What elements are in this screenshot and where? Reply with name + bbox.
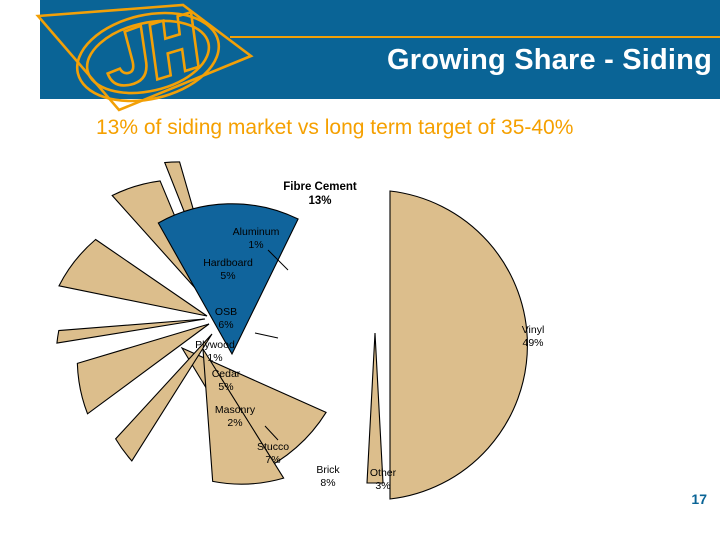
pie-label-other: Other 3% — [354, 467, 412, 493]
pie-label-stucco: Stucco 7% — [240, 441, 306, 467]
slide-header-banner: Growing Share - Siding — [40, 0, 720, 99]
slide-subtitle: 13% of siding market vs long term target… — [96, 116, 573, 140]
pie-label-masonry: Masonry 2% — [198, 404, 272, 430]
pie-label-cedar: Cedar 5% — [195, 368, 257, 394]
pie-label-osb: OSB 6% — [196, 306, 256, 332]
pie-label-hardboard: Hardboard 5% — [188, 257, 268, 283]
pie-label-aluminum: Aluminum 1% — [216, 226, 296, 252]
siding-market-share-pie-chart: Fibre Cement 13% Aluminum 1% Hardboard 5… — [0, 150, 720, 510]
pie-label-brick: Brick 8% — [298, 464, 358, 490]
pie-label-plywood: Plywood 1% — [180, 339, 250, 365]
pie-label-fibre-cement: Fibre Cement 13% — [264, 180, 376, 209]
page-title: Growing Share - Siding — [387, 44, 712, 77]
page-number: 17 — [691, 491, 707, 507]
pie-slice-other — [367, 333, 383, 483]
header-accent-rule — [230, 36, 720, 38]
pie-label-vinyl: Vinyl 49% — [505, 324, 561, 350]
